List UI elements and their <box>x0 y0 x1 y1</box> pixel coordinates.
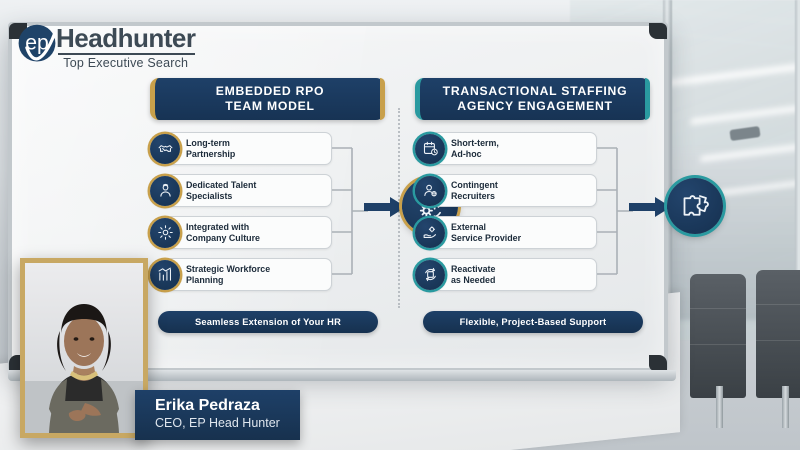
presenter-portrait-frame <box>20 258 148 438</box>
list-item-label: Short-term, Ad-hoc <box>430 132 597 165</box>
panel-transactional-staffing: TRANSACTIONAL STAFFING AGENCY ENGAGEMENT… <box>415 78 650 333</box>
left-panel-header: EMBEDDED RPO TEAM MODEL <box>150 78 385 120</box>
infographic: EMBEDDED RPO TEAM MODEL Long-term Partne… <box>150 78 650 333</box>
board-corner <box>649 355 667 371</box>
presenter-role: CEO, EP Head Hunter <box>155 415 300 431</box>
list-item-label: Integrated with Company Culture <box>165 216 332 249</box>
bar-chart-growth-icon <box>150 260 180 290</box>
right-connector-tree <box>597 132 633 300</box>
logo-tagline: Top Executive Search <box>56 57 195 70</box>
panel-embedded-rpo: EMBEDDED RPO TEAM MODEL Long-term Partne… <box>150 78 385 333</box>
presenter-nameplate: Erika Pedraza CEO, EP Head Hunter <box>135 390 300 440</box>
left-connector-tree <box>332 132 368 300</box>
list-item-label: External Service Provider <box>430 216 597 249</box>
list-item[interactable]: Short-term, Ad-hoc <box>415 132 597 165</box>
board-corner <box>649 23 667 39</box>
list-item[interactable]: Integrated with Company Culture <box>150 216 332 249</box>
list-item[interactable]: Strategic Workforce Planning <box>150 258 332 291</box>
ep-monogram-icon: ep <box>14 22 60 68</box>
logo-divider <box>58 53 195 55</box>
person-gear-icon <box>415 176 445 206</box>
presenter-figure <box>25 263 143 433</box>
right-panel-items: Short-term, Ad-hoc Contingent Recruiters <box>415 132 597 300</box>
list-item-label: Contingent Recruiters <box>430 174 597 207</box>
conference-chair <box>756 270 800 398</box>
calendar-clock-icon <box>415 134 445 164</box>
right-panel-title-line1: TRANSACTIONAL STAFFING <box>443 84 628 99</box>
left-panel-items: Long-term Partnership Dedicated Talent S… <box>150 132 332 300</box>
list-item[interactable]: Contingent Recruiters <box>415 174 597 207</box>
list-item-label: Dedicated Talent Specialists <box>165 174 332 207</box>
logo-wordmark: Headhunter <box>56 25 195 51</box>
gear-icon <box>150 218 180 248</box>
presenter-photo <box>25 263 143 433</box>
right-footer-bar: Flexible, Project-Based Support <box>423 311 643 333</box>
chair-post <box>716 386 723 428</box>
puzzle-pieces-icon <box>667 178 723 234</box>
conference-chair <box>690 274 746 398</box>
handshake-icon <box>150 134 180 164</box>
list-item[interactable]: Reactivate as Needed <box>415 258 597 291</box>
refresh-cycle-icon <box>415 260 445 290</box>
left-flow-arrow <box>364 196 406 218</box>
right-panel-title-line2: AGENCY ENGAGEMENT <box>457 99 612 114</box>
list-item-label: Strategic Workforce Planning <box>165 258 332 291</box>
left-footer-bar: Seamless Extension of Your HR <box>158 311 378 333</box>
chair-post <box>782 386 789 428</box>
list-item[interactable]: External Service Provider <box>415 216 597 249</box>
hand-gear-icon <box>415 218 445 248</box>
right-panel-header: TRANSACTIONAL STAFFING AGENCY ENGAGEMENT <box>415 78 650 120</box>
presenter-name: Erika Pedraza <box>155 396 300 415</box>
left-panel-title-line1: EMBEDDED RPO <box>216 84 325 99</box>
recruiter-person-icon <box>150 176 180 206</box>
brand-logo: ep Headhunter Top Executive Search <box>14 22 195 69</box>
right-flow-arrow <box>629 196 671 218</box>
list-item[interactable]: Dedicated Talent Specialists <box>150 174 332 207</box>
list-item-label: Long-term Partnership <box>165 132 332 165</box>
left-panel-title-line2: TEAM MODEL <box>225 99 314 114</box>
list-item[interactable]: Long-term Partnership <box>150 132 332 165</box>
list-item-label: Reactivate as Needed <box>430 258 597 291</box>
